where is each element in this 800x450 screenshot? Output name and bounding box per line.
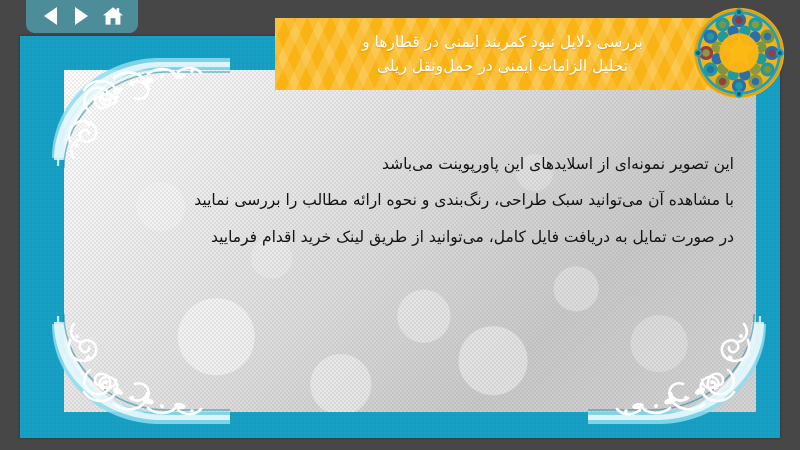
body-line-3: در صورت تمایل به دریافت فایل کامل، می‌تو… (80, 219, 734, 255)
home-icon (102, 6, 124, 26)
slide-canvas: این تصویر نمونه‌ای از اسلایدهای این پاور… (20, 36, 780, 438)
persian-medallion-icon (692, 6, 786, 100)
arrow-right-icon (75, 7, 88, 25)
title-line-2: تحلیل الزامات ایمنی در حمل‌ونقل ریلی (377, 54, 628, 78)
body-line-1: این تصویر نمونه‌ای از اسلایدهای این پاور… (80, 146, 734, 182)
body-line-2: با مشاهده آن می‌توانید سبک طراحی، رنگ‌بن… (80, 182, 734, 218)
previous-slide-button[interactable] (39, 5, 63, 27)
slide-viewer: این تصویر نمونه‌ای از اسلایدهای این پاور… (0, 0, 800, 450)
arrow-left-icon (44, 7, 57, 25)
next-slide-button[interactable] (70, 5, 94, 27)
slide-title-banner: بررسی دلایل نبود کمربند ایمنی در قطارها … (275, 18, 730, 90)
slide-body-text: این تصویر نمونه‌ای از اسلایدهای این پاور… (80, 146, 734, 255)
navigation-bar (26, 0, 138, 33)
title-line-1: بررسی دلایل نبود کمربند ایمنی در قطارها … (362, 30, 643, 54)
home-button[interactable] (101, 5, 125, 27)
